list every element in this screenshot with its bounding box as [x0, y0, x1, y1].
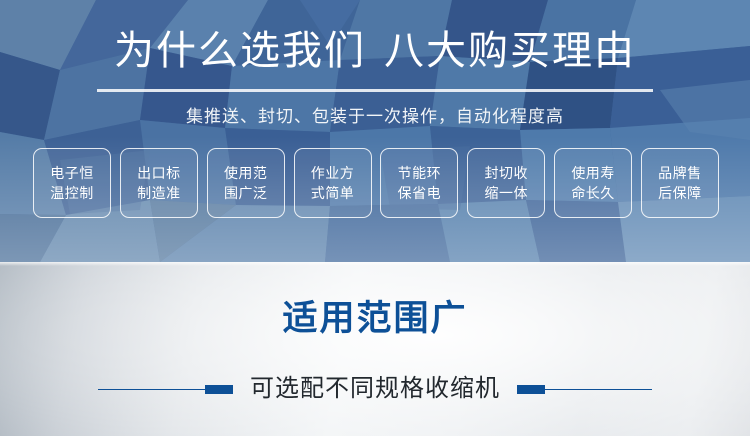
bottom-section [0, 262, 750, 436]
hero-title-part-2: 八大购买理由 [384, 29, 636, 73]
feature-box-3[interactable]: 使用范 围广泛 [207, 148, 285, 218]
feature-box-5-line-2: 保省电 [398, 183, 442, 203]
hero-title: 为什么选我们八大购买理由 [0, 27, 750, 75]
feature-box-1-line-2: 温控制 [50, 183, 94, 203]
bottom-subtitle-row: 可选配不同规格收缩机 [0, 370, 750, 408]
hero-title-part-1: 为什么选我们 [114, 29, 366, 73]
feature-box-6[interactable]: 封切收 缩一体 [467, 148, 545, 218]
feature-box-5[interactable]: 节能环 保省电 [380, 148, 458, 218]
bottom-top-highlight [0, 262, 750, 266]
feature-box-4-line-1: 作业方 [311, 163, 355, 183]
hero-subtitle: 集推送、封切、包装于一次操作，自动化程度高 [0, 104, 750, 130]
feature-box-8-line-1: 品牌售 [658, 163, 702, 183]
feature-box-4-line-2: 式简单 [311, 183, 355, 203]
promo-banner: 为什么选我们八大购买理由 集推送、封切、包装于一次操作，自动化程度高 电子恒 温… [0, 0, 750, 436]
feature-box-3-line-2: 围广泛 [224, 183, 268, 203]
feature-box-1-line-1: 电子恒 [50, 163, 94, 183]
feature-box-6-line-2: 缩一体 [484, 183, 528, 203]
deco-line-left [98, 389, 205, 390]
hero-section: 为什么选我们八大购买理由 集推送、封切、包装于一次操作，自动化程度高 电子恒 温… [0, 0, 750, 262]
hero-divider-rule [97, 89, 653, 92]
feature-box-list: 电子恒 温控制 出口标 制造准 使用范 围广泛 作业方 式简单 节能环 [33, 148, 719, 218]
feature-box-2-line-1: 出口标 [137, 163, 181, 183]
feature-box-6-line-1: 封切收 [484, 163, 528, 183]
bottom-headline: 适用范围广 [0, 297, 750, 341]
feature-box-2[interactable]: 出口标 制造准 [120, 148, 198, 218]
feature-box-3-line-1: 使用范 [224, 163, 268, 183]
feature-box-4[interactable]: 作业方 式简单 [294, 148, 372, 218]
deco-line-right [545, 389, 652, 390]
hero-content: 为什么选我们八大购买理由 集推送、封切、包装于一次操作，自动化程度高 电子恒 温… [0, 0, 750, 262]
deco-block-left [205, 385, 233, 394]
feature-box-2-line-2: 制造准 [137, 183, 181, 203]
feature-box-8[interactable]: 品牌售 后保障 [641, 148, 719, 218]
bottom-subtitle: 可选配不同规格收缩机 [250, 372, 500, 406]
deco-block-right [517, 385, 545, 394]
feature-box-8-line-2: 后保障 [658, 183, 702, 203]
feature-box-7[interactable]: 使用寿 命长久 [554, 148, 632, 218]
feature-box-7-line-2: 命长久 [571, 183, 615, 203]
feature-box-5-line-1: 节能环 [398, 163, 442, 183]
feature-box-7-line-1: 使用寿 [571, 163, 615, 183]
feature-box-1[interactable]: 电子恒 温控制 [33, 148, 111, 218]
